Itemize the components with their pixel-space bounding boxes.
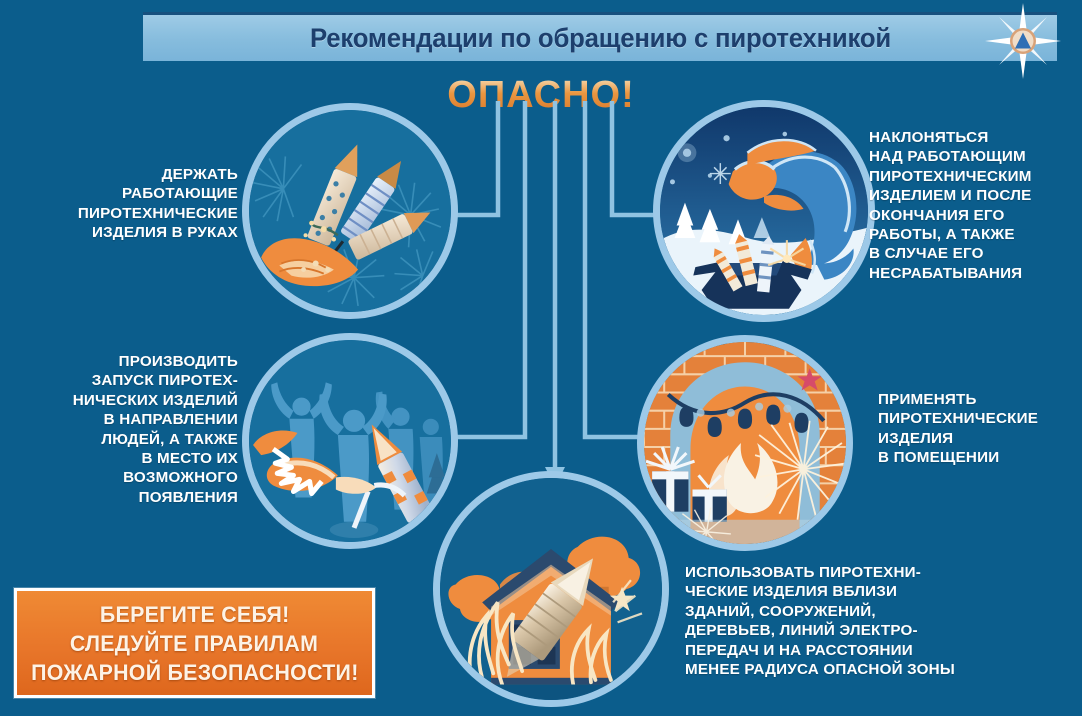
rule-line: ИЗДЕЛИЯ	[878, 429, 1078, 448]
rule-text-lean-over: НАКЛОНЯТЬСЯ НАД РАБОТАЮЩИМ ПИРОТЕХНИЧЕСК…	[869, 128, 1074, 283]
rule-line: В СЛУЧАЕ ЕГО	[869, 244, 1074, 263]
poster-root: Рекомендации по обращению с пиротехникой…	[0, 0, 1082, 716]
rule-line: ПОЯВЛЕНИЯ	[20, 488, 238, 507]
circle-illustration-rocket-aimed-at-crowd	[242, 333, 458, 549]
rule-line: ЗДАНИЙ, СООРУЖЕНИЙ,	[685, 602, 1080, 621]
rule-line: ОКОНЧАНИЯ ЕГО	[869, 206, 1074, 225]
emercom-star-logo	[985, 3, 1061, 79]
rule-text-hold-in-hands: ДЕРЖАТЬ РАБОТАЮЩИЕ ПИРОТЕХНИЧЕСКИЕ ИЗДЕЛ…	[20, 165, 238, 243]
rule-line: ПИРОТЕХНИЧЕСКИЕ	[20, 204, 238, 223]
rule-line: ИЗДЕЛИЯ В РУКАХ	[20, 223, 238, 242]
rule-line: ПИРОТЕХНИЧЕСКИМ	[869, 167, 1074, 186]
rule-line: В НАПРАВЛЕНИИ	[20, 410, 238, 429]
rule-line: В ПОМЕЩЕНИИ	[878, 448, 1078, 467]
circle-illustration-burning-house-rocket	[433, 471, 669, 707]
rule-line: ДЕРЖАТЬ	[20, 165, 238, 184]
rule-line: В МЕСТО ИХ	[20, 449, 238, 468]
rule-line: ДЕРЕВЬЕВ, ЛИНИЙ ЭЛЕКТРО-	[685, 621, 1080, 640]
rule-line: ЗАПУСК ПИРОТЕХ-	[20, 371, 238, 390]
circle-illustration-fireworks-indoors	[637, 335, 853, 551]
rule-text-indoors: ПРИМЕНЯТЬ ПИРОТЕХНИЧЕСКИЕ ИЗДЕЛИЯ В ПОМЕ…	[878, 390, 1078, 468]
rule-line: ПРОИЗВОДИТЬ	[20, 352, 238, 371]
callout-line: ПОЖАРНОЙ БЕЗОПАСНОСТИ!	[31, 658, 359, 687]
rule-text-near-buildings: ИСПОЛЬЗОВАТЬ ПИРОТЕХНИ- ЧЕСКИЕ ИЗДЕЛИЯ В…	[685, 563, 1080, 679]
rule-line: ЛЮДЕЙ, А ТАКЖЕ	[20, 430, 238, 449]
rule-line: РАБОТАЮЩИЕ	[20, 184, 238, 203]
rule-line: РАБОТЫ, А ТАКЖЕ	[869, 225, 1074, 244]
safety-callout-box: БЕРЕГИТЕ СЕБЯ! СЛЕДУЙТЕ ПРАВИЛАМ ПОЖАРНО…	[14, 588, 375, 698]
rule-line: НАД РАБОТАЮЩИМ	[869, 147, 1074, 166]
rule-line: НИЧЕСКИХ ИЗДЕЛИЙ	[20, 391, 238, 410]
page-title: Рекомендации по обращению с пиротехникой	[309, 23, 890, 54]
rule-line: ПЕРЕДАЧ И НА РАССТОЯНИИ	[685, 641, 1080, 660]
rule-line: ИЗДЕЛИЕМ И ПОСЛЕ	[869, 186, 1074, 205]
rule-line: ПИРОТЕХНИЧЕСКИЕ	[878, 409, 1078, 428]
callout-line: БЕРЕГИТЕ СЕБЯ!	[100, 600, 290, 629]
rule-line: ЧЕСКИЕ ИЗДЕЛИЯ ВБЛИЗИ	[685, 582, 1080, 601]
callout-line: СЛЕДУЙТЕ ПРАВИЛАМ	[70, 629, 318, 658]
rule-line: НЕСРАБАТЫВАНИЯ	[869, 264, 1074, 283]
rule-line: ИСПОЛЬЗОВАТЬ ПИРОТЕХНИ-	[685, 563, 1080, 582]
rule-line: ВОЗМОЖНОГО	[20, 468, 238, 487]
rule-line: ПРИМЕНЯТЬ	[878, 390, 1078, 409]
circle-illustration-person-leaning-over-firework	[653, 100, 875, 322]
circle-illustration-hand-holding-fireworks	[242, 103, 458, 319]
rule-line: НАКЛОНЯТЬСЯ	[869, 128, 1074, 147]
header-bar: Рекомендации по обращению с пиротехникой	[143, 12, 1057, 61]
rule-text-aim-at-people: ПРОИЗВОДИТЬ ЗАПУСК ПИРОТЕХ- НИЧЕСКИХ ИЗД…	[20, 352, 238, 507]
rule-line: МЕНЕЕ РАДИУСА ОПАСНОЙ ЗОНЫ	[685, 660, 1080, 679]
